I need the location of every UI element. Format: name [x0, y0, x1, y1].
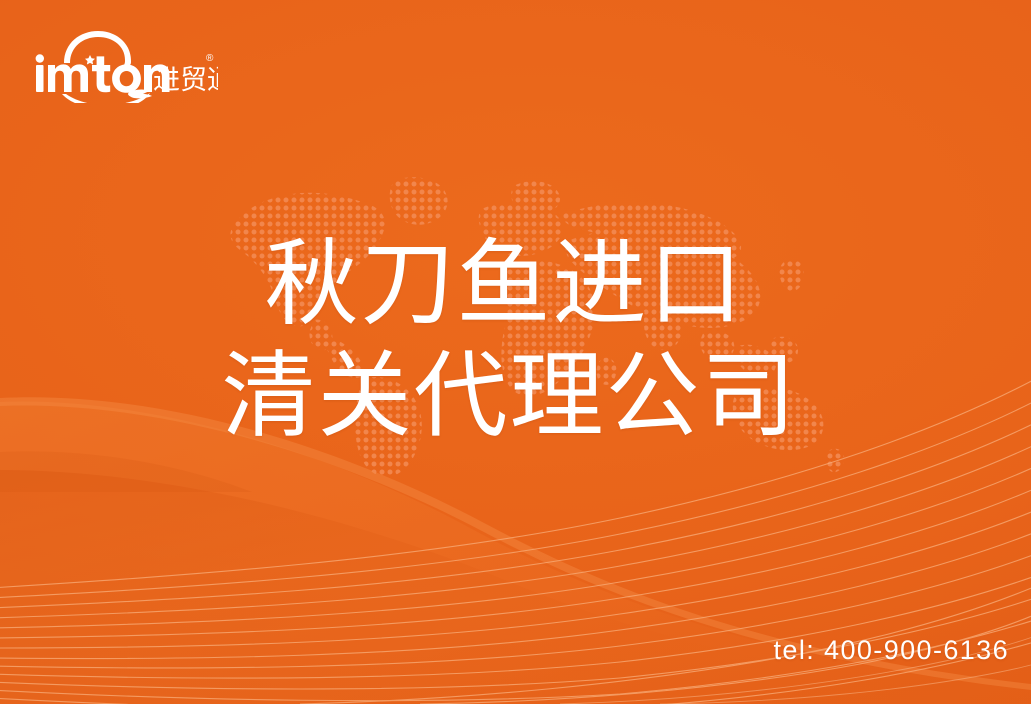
company-logo[interactable]: 进贸通 ®: [32, 27, 218, 103]
headline-line-1: 秋刀鱼进口: [0, 228, 1031, 340]
headline-line-2: 清关代理公司: [0, 340, 1031, 452]
headline-block: 秋刀鱼进口 清关代理公司: [0, 228, 1031, 452]
logo-wordmark: [36, 54, 170, 93]
banner-canvas: 进贸通 ® 秋刀鱼进口 清关代理公司 tel: 400-900-6136: [0, 0, 1031, 704]
registered-trademark-icon: ®: [206, 53, 214, 64]
contact-phone[interactable]: tel: 400-900-6136: [774, 634, 1009, 666]
logo-chinese-name: 进贸通: [153, 65, 218, 95]
